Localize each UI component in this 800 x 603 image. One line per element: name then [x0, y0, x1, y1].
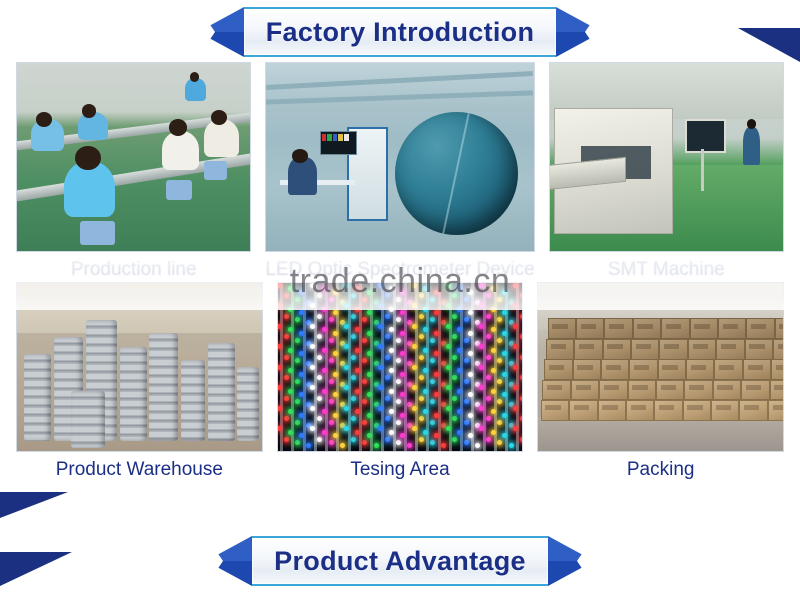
led-bulb — [419, 396, 424, 401]
banner-plate: Product Advantage — [252, 536, 548, 586]
factory-introduction-row-2: Product Warehouse Tesing Area Packing — [16, 282, 784, 481]
led-bulb — [452, 375, 457, 380]
carton — [746, 318, 774, 339]
led-bulb — [299, 331, 304, 336]
led-bulb — [502, 372, 507, 377]
banner-product-advantage: Product Advantage — [0, 533, 800, 589]
led-bulb — [419, 334, 424, 339]
led-bulb — [295, 440, 300, 445]
led-bulb — [277, 283, 282, 288]
led-bulb — [464, 420, 469, 425]
carton — [541, 400, 569, 421]
led-bulb — [367, 433, 372, 438]
led-bulb — [423, 389, 428, 394]
corner-triangle-left-upper — [0, 492, 68, 518]
carton — [711, 400, 739, 421]
carton — [741, 380, 769, 401]
led-bulb — [419, 375, 424, 380]
led-bulb — [486, 334, 491, 339]
led-bulb — [329, 338, 334, 343]
photo-caption: Production line — [16, 252, 251, 281]
carton — [770, 380, 784, 401]
led-bulb — [396, 420, 401, 425]
led-strand — [370, 283, 373, 451]
led-bulb — [385, 416, 390, 421]
led-bulb — [430, 440, 435, 445]
led-bulb — [520, 314, 523, 319]
led-bulb — [288, 430, 293, 435]
led-bulb — [502, 413, 507, 418]
photo-caption: LED Optic Spectrometer Device — [265, 252, 534, 281]
carton — [656, 380, 684, 401]
led-bulb — [412, 365, 417, 370]
led-bulb — [362, 379, 367, 384]
led-bulb — [333, 372, 338, 377]
led-bulb — [317, 396, 322, 401]
led-bulb — [491, 368, 496, 373]
led-bulb — [419, 355, 424, 360]
photo-led-optic-spectrometer-device — [265, 62, 534, 252]
led-bulb — [329, 358, 334, 363]
led-bulb — [430, 379, 435, 384]
led-bulb — [362, 420, 367, 425]
carton — [690, 318, 718, 339]
led-bulb — [288, 307, 293, 312]
led-bulb — [497, 420, 502, 425]
led-bulb — [502, 392, 507, 397]
led-bulb — [430, 358, 435, 363]
led-bulb — [396, 399, 401, 404]
photo-packing — [537, 282, 784, 452]
led-bulb — [385, 314, 390, 319]
carton — [661, 318, 689, 339]
led-bulb — [351, 437, 356, 442]
integrating-sphere — [395, 112, 518, 235]
led-bulb — [284, 416, 289, 421]
led-bulb — [351, 416, 356, 421]
led-bulb — [329, 317, 334, 322]
carton — [544, 359, 572, 380]
led-bulb — [497, 297, 502, 302]
led-bulb — [520, 437, 523, 442]
led-bulb — [412, 406, 417, 411]
led-bulb — [457, 307, 462, 312]
led-bulb — [520, 416, 523, 421]
led-bulb — [468, 413, 473, 418]
led-bulb — [351, 314, 356, 319]
gallery-cell: Packing — [537, 282, 784, 481]
led-bulb — [513, 324, 518, 329]
led-bulb — [284, 375, 289, 380]
carton — [603, 339, 631, 360]
led-bulb — [446, 283, 451, 288]
led-bulb — [396, 379, 401, 384]
led-bulb — [475, 443, 480, 448]
led-bulb — [441, 443, 446, 448]
led-bulb — [396, 338, 401, 343]
carton — [631, 339, 659, 360]
led-bulb — [295, 399, 300, 404]
led-bulb — [419, 314, 424, 319]
led-bulb — [486, 293, 491, 298]
led-bulb — [367, 413, 372, 418]
led-bulb — [340, 443, 345, 448]
led-bulb — [277, 365, 282, 370]
led-bulb — [351, 375, 356, 380]
carton — [739, 400, 767, 421]
banner-plate: Factory Introduction — [244, 7, 557, 57]
led-bulb — [446, 406, 451, 411]
led-bulb — [513, 365, 518, 370]
led-bulb — [362, 440, 367, 445]
led-bulb — [520, 293, 523, 298]
led-bulb — [434, 413, 439, 418]
led-bulb — [284, 355, 289, 360]
led-strand — [505, 283, 508, 451]
led-bulb — [378, 406, 383, 411]
led-bulb — [457, 389, 462, 394]
carton — [718, 318, 746, 339]
photo-caption: Tesing Area — [277, 452, 524, 481]
led-bulb — [322, 389, 327, 394]
led-bulb — [491, 307, 496, 312]
led-bulb — [299, 413, 304, 418]
led-bulb — [367, 310, 372, 315]
led-bulb — [284, 396, 289, 401]
led-bulb — [452, 355, 457, 360]
led-bulb — [464, 399, 469, 404]
led-bulb — [452, 293, 457, 298]
chevron-right-icon — [548, 536, 594, 586]
led-bulb — [322, 307, 327, 312]
led-bulb — [329, 420, 334, 425]
led-bulb — [374, 443, 379, 448]
led-strand — [471, 283, 474, 451]
led-bulb — [497, 399, 502, 404]
led-bulb — [385, 334, 390, 339]
led-bulb — [317, 416, 322, 421]
photo-testing-area — [277, 282, 524, 452]
led-bulb — [407, 443, 412, 448]
led-bulb — [288, 348, 293, 353]
led-bulb — [378, 324, 383, 329]
led-bulb — [520, 396, 523, 401]
led-bulb — [520, 355, 523, 360]
led-bulb — [452, 334, 457, 339]
led-bulb — [419, 416, 424, 421]
led-bulb — [457, 348, 462, 353]
carton — [745, 339, 773, 360]
led-bulb — [351, 334, 356, 339]
led-bulb — [486, 375, 491, 380]
led-bulb — [396, 358, 401, 363]
led-bulb — [367, 331, 372, 336]
led-bulb — [434, 372, 439, 377]
led-bulb — [502, 310, 507, 315]
led-bulb — [502, 331, 507, 336]
carton — [599, 380, 627, 401]
led-bulb — [464, 297, 469, 302]
carton — [629, 359, 657, 380]
carton — [633, 318, 661, 339]
led-bulb — [430, 420, 435, 425]
led-bulb — [306, 443, 311, 448]
carton — [771, 359, 784, 380]
led-bulb — [464, 317, 469, 322]
carton — [604, 318, 632, 339]
photo-caption: Product Warehouse — [16, 452, 263, 481]
led-bulb — [430, 297, 435, 302]
led-bulb — [434, 290, 439, 295]
led-bulb — [333, 413, 338, 418]
led-bulb — [464, 338, 469, 343]
gallery-cell: SMT Machine — [549, 62, 784, 281]
led-bulb — [430, 317, 435, 322]
led-bulb — [452, 437, 457, 442]
led-bulb — [468, 372, 473, 377]
led-bulb — [497, 440, 502, 445]
carton — [542, 380, 570, 401]
led-bulb — [412, 324, 417, 329]
carton — [716, 339, 744, 360]
led-bulb — [412, 283, 417, 288]
photo-production-line — [16, 62, 251, 252]
led-bulb — [367, 290, 372, 295]
led-bulb — [295, 338, 300, 343]
led-bulb — [464, 379, 469, 384]
led-bulb — [322, 430, 327, 435]
led-bulb — [277, 324, 282, 329]
led-bulb — [284, 314, 289, 319]
led-bulb — [284, 293, 289, 298]
carton — [658, 359, 686, 380]
led-bulb — [317, 437, 322, 442]
led-bulb — [468, 290, 473, 295]
led-bulb — [385, 293, 390, 298]
carton — [574, 339, 602, 360]
led-bulb — [497, 338, 502, 343]
led-bulb — [446, 365, 451, 370]
led-bulb — [295, 358, 300, 363]
photo-product-warehouse — [16, 282, 263, 452]
led-bulb — [378, 365, 383, 370]
gallery-cell: Product Warehouse — [16, 282, 263, 481]
led-bulb — [367, 372, 372, 377]
led-bulb — [430, 399, 435, 404]
led-bulb — [284, 334, 289, 339]
led-bulb — [295, 379, 300, 384]
carton — [683, 400, 711, 421]
led-bulb — [333, 331, 338, 336]
led-bulb — [277, 406, 282, 411]
led-bulb — [457, 430, 462, 435]
led-bulb — [486, 355, 491, 360]
led-bulb — [284, 437, 289, 442]
led-bulb — [491, 286, 496, 291]
chevron-left-icon — [206, 536, 252, 586]
led-bulb — [329, 379, 334, 384]
led-bulb — [333, 290, 338, 295]
led-bulb — [491, 430, 496, 435]
led-bulb — [513, 406, 518, 411]
led-bulb — [520, 334, 523, 339]
carton — [571, 380, 599, 401]
led-bulb — [367, 392, 372, 397]
led-bulb — [351, 355, 356, 360]
carton — [768, 400, 784, 421]
led-bulb — [502, 290, 507, 295]
led-bulb — [513, 283, 518, 288]
gallery-cell: Production line — [16, 62, 251, 281]
led-bulb — [396, 317, 401, 322]
photo-caption: Packing — [537, 452, 784, 481]
led-bulb — [491, 409, 496, 414]
led-bulb — [295, 297, 300, 302]
led-bulb — [419, 293, 424, 298]
led-bulb — [362, 297, 367, 302]
carton — [654, 400, 682, 421]
carton — [743, 359, 771, 380]
led-bulb — [317, 355, 322, 360]
led-bulb — [464, 440, 469, 445]
led-bulb — [329, 399, 334, 404]
led-bulb — [317, 314, 322, 319]
led-bulb — [491, 348, 496, 353]
led-bulb — [423, 307, 428, 312]
carton — [714, 359, 742, 380]
carton — [686, 359, 714, 380]
chevron-right-icon — [556, 7, 602, 57]
carton — [548, 318, 576, 339]
carton — [598, 400, 626, 421]
led-bulb — [486, 314, 491, 319]
carton — [576, 318, 604, 339]
led-bulb — [446, 324, 451, 329]
led-bulb — [362, 317, 367, 322]
led-bulb — [299, 372, 304, 377]
carton — [601, 359, 629, 380]
led-bulb — [385, 355, 390, 360]
led-bulb — [497, 317, 502, 322]
led-bulb — [329, 297, 334, 302]
led-bulb — [367, 351, 372, 356]
led-bulb — [317, 375, 322, 380]
led-bulb — [378, 283, 383, 288]
led-bulb — [491, 327, 496, 332]
led-bulb — [295, 317, 300, 322]
led-bulb — [502, 351, 507, 356]
led-bulb — [362, 399, 367, 404]
led-bulb — [317, 334, 322, 339]
carton — [626, 400, 654, 421]
led-bulb — [362, 358, 367, 363]
led-bulb — [509, 443, 514, 448]
photo-smt-machine — [549, 62, 784, 252]
led-bulb — [452, 314, 457, 319]
banner-title: Product Advantage — [274, 546, 526, 577]
led-bulb — [419, 437, 424, 442]
led-bulb — [468, 331, 473, 336]
led-bulb — [423, 348, 428, 353]
led-bulb — [464, 358, 469, 363]
led-bulb — [486, 396, 491, 401]
led-bulb — [396, 297, 401, 302]
led-bulb — [385, 375, 390, 380]
carton — [684, 380, 712, 401]
led-bulb — [329, 440, 334, 445]
carton — [713, 380, 741, 401]
led-bulb — [423, 430, 428, 435]
led-bulb — [351, 396, 356, 401]
banner-title: Factory Introduction — [266, 17, 535, 48]
led-bulb — [385, 437, 390, 442]
led-bulb — [295, 420, 300, 425]
led-bulb — [452, 416, 457, 421]
carton — [628, 380, 656, 401]
led-bulb — [317, 293, 322, 298]
carton — [775, 318, 784, 339]
led-bulb — [452, 396, 457, 401]
led-bulb — [486, 437, 491, 442]
led-bulb — [520, 375, 523, 380]
led-bulb — [288, 389, 293, 394]
led-bulb — [502, 433, 507, 438]
led-bulb — [299, 290, 304, 295]
led-bulb — [434, 331, 439, 336]
led-bulb — [351, 293, 356, 298]
led-bulb — [497, 358, 502, 363]
carton — [659, 339, 687, 360]
led-bulb — [322, 348, 327, 353]
led-bulb — [385, 396, 390, 401]
led-bulb — [430, 338, 435, 343]
led-bulb — [362, 338, 367, 343]
banner-factory-introduction: Factory Introduction — [0, 4, 800, 60]
chevron-left-icon — [198, 7, 244, 57]
factory-introduction-row-1: Production line LED Optic Spectrometer D… — [16, 62, 784, 281]
gallery-cell: LED Optic Spectrometer Device — [265, 62, 534, 281]
carton — [569, 400, 597, 421]
led-bulb — [396, 440, 401, 445]
carton — [573, 359, 601, 380]
led-bulb — [491, 389, 496, 394]
led-strand — [336, 283, 339, 451]
led-bulb — [486, 416, 491, 421]
gallery-cell: Tesing Area — [277, 282, 524, 481]
carton — [546, 339, 574, 360]
carton — [688, 339, 716, 360]
led-bulb — [497, 379, 502, 384]
photo-caption: SMT Machine — [549, 252, 784, 281]
carton — [773, 339, 784, 360]
